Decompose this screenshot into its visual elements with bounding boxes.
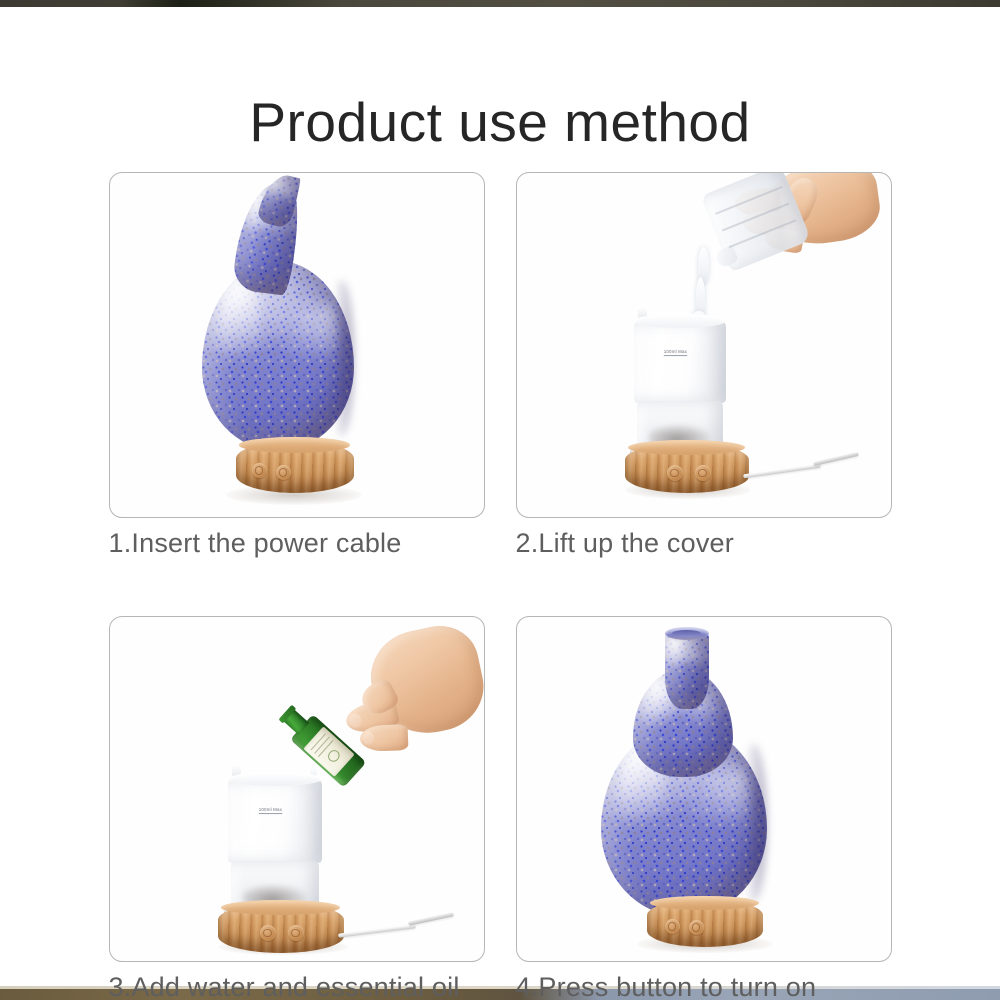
tank-max-level-label: 100ml Max bbox=[258, 807, 281, 814]
power-cable-icon bbox=[743, 464, 821, 479]
glass-neck-icon bbox=[665, 631, 709, 709]
oil-label-seal-icon bbox=[325, 748, 341, 764]
step-4-caption: 4.Press button to turn on bbox=[516, 972, 892, 1003]
power-cable-plug-icon bbox=[813, 452, 859, 466]
step-4: 4.Press button to turn on bbox=[516, 616, 892, 1003]
step-1: 1.Insert the power cable bbox=[109, 172, 485, 559]
step-2-image-panel: 100ml Max bbox=[516, 172, 892, 518]
step-2: 100ml Max 2.Lift up th bbox=[516, 172, 892, 559]
step-2-caption: 2.Lift up the cover bbox=[516, 528, 892, 559]
steps-row-1: 1.Insert the power cable bbox=[0, 172, 1000, 559]
wood-base-top-icon bbox=[650, 896, 759, 910]
light-button-icon[interactable] bbox=[288, 925, 304, 941]
step-1-image-panel bbox=[109, 172, 485, 518]
glass-shadow-icon bbox=[329, 280, 353, 436]
water-tank-icon: 100ml Max bbox=[634, 321, 726, 403]
light-button-icon[interactable] bbox=[276, 465, 291, 480]
glass-mouth-opening-icon bbox=[665, 627, 709, 640]
wood-base-top-icon bbox=[628, 440, 745, 455]
wood-base-icon bbox=[647, 899, 763, 947]
wood-base-icon bbox=[218, 903, 344, 953]
water-tank-icon: 100ml Max bbox=[228, 779, 322, 863]
glass-neck-highlight-icon bbox=[670, 636, 681, 684]
glass-shadow-icon bbox=[740, 744, 767, 901]
fingernail-icon bbox=[348, 712, 363, 728]
power-button-icon[interactable] bbox=[252, 463, 267, 478]
tank-rim-icon bbox=[634, 314, 726, 328]
step-3-image-panel: 100ml Max bbox=[109, 616, 485, 962]
wood-base-icon bbox=[236, 441, 354, 493]
finger-middle-icon bbox=[359, 724, 408, 752]
power-button-icon[interactable] bbox=[667, 465, 683, 481]
step-4-image-panel bbox=[516, 616, 892, 962]
steps-row-2: 100ml Max 3.Add water and essen bbox=[0, 616, 1000, 1003]
page-title: Product use method bbox=[0, 95, 1000, 150]
light-button-icon[interactable] bbox=[695, 465, 711, 481]
power-button-icon[interactable] bbox=[260, 925, 276, 941]
wood-base-top-icon bbox=[239, 437, 350, 453]
power-cable-plug-icon bbox=[408, 912, 454, 925]
tank-max-level-label: 100ml Max bbox=[663, 349, 686, 356]
step-3-caption: 3.Add water and essential oil bbox=[109, 972, 485, 1003]
power-button-icon[interactable] bbox=[665, 919, 680, 934]
cup-spout-icon bbox=[713, 245, 738, 269]
power-cable-icon bbox=[338, 924, 416, 937]
glass-mouth-hole-icon bbox=[672, 630, 702, 637]
tank-rim-icon bbox=[228, 772, 322, 786]
fingernail-icon bbox=[362, 731, 373, 744]
wood-base-icon bbox=[625, 443, 749, 493]
steps-grid: 1.Insert the power cable bbox=[0, 172, 1000, 1003]
light-button-icon[interactable] bbox=[689, 920, 704, 935]
wood-base-top-icon bbox=[221, 900, 339, 915]
step-3: 100ml Max 3.Add water and essen bbox=[109, 616, 485, 1003]
step-1-caption: 1.Insert the power cable bbox=[109, 528, 485, 559]
scan-edge-top bbox=[0, 0, 1000, 7]
